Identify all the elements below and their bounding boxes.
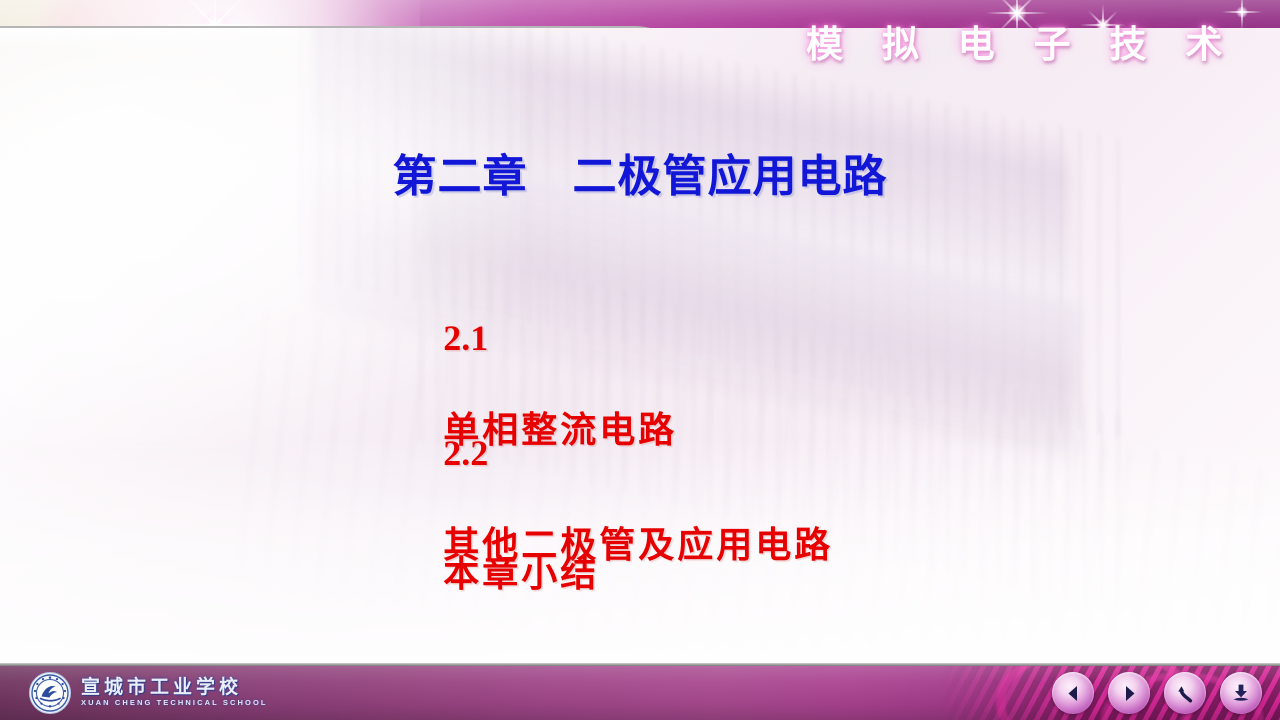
exit-button[interactable] <box>1220 672 1262 714</box>
school-branding: 宣城市工业学校 XUAN CHENG TECHNICAL SCHOOL <box>28 670 268 716</box>
return-button[interactable] <box>1164 672 1206 714</box>
presentation-slide: 模 拟 电 子 技 术 第二章 二极管应用电路 2.1 单相整流电路 2.2 其… <box>0 0 1280 720</box>
chapter-title: 第二章 二极管应用电路 <box>0 140 1280 204</box>
previous-slide-button[interactable] <box>1052 672 1094 714</box>
toc-number: 2.2 <box>443 433 488 473</box>
school-name-en: XUAN CHENG TECHNICAL SCHOOL <box>81 698 268 708</box>
next-slide-button[interactable] <box>1108 672 1150 714</box>
curved-back-arrow-icon <box>1174 682 1197 705</box>
school-name-block: 宣城市工业学校 XUAN CHENG TECHNICAL SCHOOL <box>81 678 268 708</box>
triangle-right-icon <box>1120 684 1139 703</box>
school-name-cn: 宣城市工业学校 <box>81 678 268 698</box>
triangle-left-icon <box>1064 684 1083 703</box>
toc-label: 本章小结 <box>443 553 599 595</box>
toc-number: 2.1 <box>443 318 488 358</box>
download-exit-icon <box>1229 681 1253 705</box>
toc-item-summary[interactable]: 本章小结 <box>368 503 599 639</box>
slide-content: 第二章 二极管应用电路 2.1 单相整流电路 2.2 其他二极管及应用电路 本章… <box>0 0 1280 720</box>
slide-navigation-bar <box>1052 672 1262 714</box>
school-emblem-icon <box>28 671 72 715</box>
